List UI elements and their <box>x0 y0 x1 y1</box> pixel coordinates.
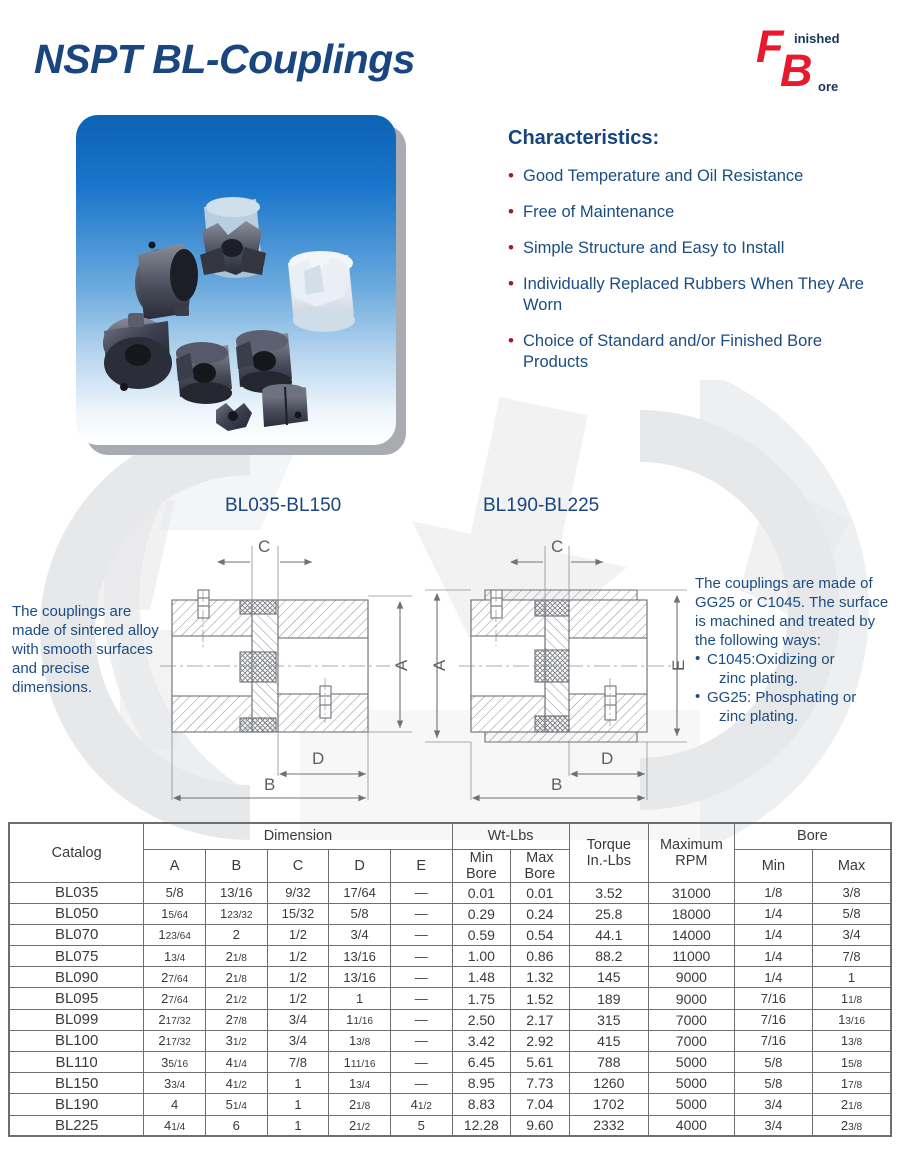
cell-bore-max: 11/8 <box>813 988 891 1009</box>
cell-bore-max: 3/4 <box>813 924 891 945</box>
cell-max-bore-wt: 2.17 <box>511 1009 570 1030</box>
specification-table: Catalog Dimension Wt-Lbs Torque In.-Lbs … <box>8 822 892 1137</box>
header-torque-line1: Torque <box>570 837 648 853</box>
cell-dim-c: 1/2 <box>267 946 329 967</box>
cell-max-bore-wt: 0.24 <box>511 903 570 924</box>
cell-min-bore-wt: 1.75 <box>452 988 511 1009</box>
cell-rpm: 5000 <box>649 1052 735 1073</box>
dim-label-b: B <box>551 775 562 794</box>
note-right: The couplings are made of GG25 or C1045.… <box>695 574 891 726</box>
characteristic-item: Simple Structure and Easy to Install <box>508 238 868 259</box>
logo-letter-b: B <box>780 48 813 93</box>
coupling-hub-right <box>236 330 292 393</box>
cell-dim-c: 1/2 <box>267 924 329 945</box>
cell-max-bore-wt: 1.52 <box>511 988 570 1009</box>
header-bore-min: Min <box>734 849 812 882</box>
dim-label-e: E <box>669 660 688 671</box>
characteristics-heading: Characteristics: <box>508 127 659 150</box>
cell-torque: 189 <box>569 988 648 1009</box>
cell-dim-e: — <box>390 1052 452 1073</box>
header-dim-a: A <box>144 849 206 882</box>
header-dim-c: C <box>267 849 329 882</box>
cell-dim-d: 3/4 <box>329 924 391 945</box>
cell-bore-max: 15/8 <box>813 1052 891 1073</box>
mini-spider <box>216 403 252 431</box>
cell-dim-b: 41/4 <box>205 1052 267 1073</box>
cell-dim-c: 1/2 <box>267 988 329 1009</box>
header-rpm: Maximum RPM <box>649 823 735 882</box>
header-bore-max: Max <box>813 849 891 882</box>
cell-min-bore-wt: 0.59 <box>452 924 511 945</box>
cell-max-bore-wt: 0.54 <box>511 924 570 945</box>
header-dim-b: B <box>205 849 267 882</box>
cell-catalog: BL050 <box>9 903 144 924</box>
technical-drawing-bl190-bl225: C A E D B <box>425 528 715 813</box>
cell-bore-min: 1/8 <box>734 882 812 903</box>
cell-catalog: BL110 <box>9 1052 144 1073</box>
coupling-hub <box>135 242 198 321</box>
cell-rpm: 9000 <box>649 988 735 1009</box>
cell-max-bore-wt: 0.01 <box>511 882 570 903</box>
cell-catalog: BL099 <box>9 1009 144 1030</box>
header-torque: Torque In.-Lbs <box>569 823 648 882</box>
cell-bore-max: 3/8 <box>813 882 891 903</box>
cell-dim-c: 15/32 <box>267 903 329 924</box>
note-right-bullet: GG25: Phosphating or <box>695 688 891 707</box>
cell-torque: 1702 <box>569 1094 648 1115</box>
cell-bore-min: 1/4 <box>734 946 812 967</box>
note-right-bullet: C1045:Oxidizing or <box>695 650 891 669</box>
logo-word-inished: inished <box>794 32 840 45</box>
cell-min-bore-wt: 1.00 <box>452 946 511 967</box>
cell-catalog: BL070 <box>9 924 144 945</box>
header-dimension: Dimension <box>144 823 452 849</box>
characteristic-item: Free of Maintenance <box>508 202 868 223</box>
cell-max-bore-wt: 7.04 <box>511 1094 570 1115</box>
table-row: BL09527/6421/21/21—1.751.5218990007/1611… <box>9 988 891 1009</box>
table-row: BL099217/3227/83/411/16—2.502.1731570007… <box>9 1009 891 1030</box>
cell-max-bore-wt: 2.92 <box>511 1030 570 1051</box>
cell-dim-b: 6 <box>205 1115 267 1136</box>
cell-catalog: BL095 <box>9 988 144 1009</box>
cell-max-bore-wt: 7.73 <box>511 1073 570 1094</box>
cell-bore-min: 1/4 <box>734 903 812 924</box>
cell-torque: 2332 <box>569 1115 648 1136</box>
cell-dim-d: 21/2 <box>329 1115 391 1136</box>
cell-bore-min: 3/4 <box>734 1115 812 1136</box>
characteristic-item: Good Temperature and Oil Resistance <box>508 166 868 187</box>
cell-dim-d: 1 <box>329 988 391 1009</box>
cell-dim-e: — <box>390 988 452 1009</box>
cell-dim-a: 217/32 <box>144 1009 206 1030</box>
cell-min-bore-wt: 12.28 <box>452 1115 511 1136</box>
cell-torque: 44.1 <box>569 924 648 945</box>
cell-dim-e: — <box>390 903 452 924</box>
cell-min-bore-wt: 3.42 <box>452 1030 511 1051</box>
drawing-label-right: BL190-BL225 <box>483 495 599 517</box>
cell-rpm: 7000 <box>649 1009 735 1030</box>
cell-catalog: BL090 <box>9 967 144 988</box>
cell-bore-min: 1/4 <box>734 967 812 988</box>
cell-max-bore-wt: 9.60 <box>511 1115 570 1136</box>
cell-dim-b: 21/2 <box>205 988 267 1009</box>
table-row: BL07513/421/81/213/16—1.000.8688.2110001… <box>9 946 891 967</box>
cell-bore-max: 17/8 <box>813 1073 891 1094</box>
header-min-bore: Min Bore <box>452 849 511 882</box>
cell-dim-b: 27/8 <box>205 1009 267 1030</box>
cell-dim-d: 13/16 <box>329 967 391 988</box>
cell-catalog: BL035 <box>9 882 144 903</box>
cell-torque: 1260 <box>569 1073 648 1094</box>
cell-dim-c: 7/8 <box>267 1052 329 1073</box>
table-row: BL0355/813/169/3217/64—0.010.013.5231000… <box>9 882 891 903</box>
cell-dim-e: — <box>390 882 452 903</box>
table-row: BL100217/3231/23/413/8—3.422.9241570007/… <box>9 1030 891 1051</box>
cell-max-bore-wt: 5.61 <box>511 1052 570 1073</box>
page-title: NSPT BL-Couplings <box>34 36 415 83</box>
cell-dim-b: 21/8 <box>205 946 267 967</box>
cell-dim-b: 51/4 <box>205 1094 267 1115</box>
cell-torque: 788 <box>569 1052 648 1073</box>
cell-dim-d: 11/16 <box>329 1009 391 1030</box>
header-catalog: Catalog <box>9 823 144 882</box>
cell-dim-e: 41/2 <box>390 1094 452 1115</box>
cell-dim-b: 31/2 <box>205 1030 267 1051</box>
cell-dim-b: 123/32 <box>205 903 267 924</box>
header-min-bore-l1: Min <box>453 850 511 866</box>
cell-dim-d: 13/8 <box>329 1030 391 1051</box>
cell-dim-c: 1/2 <box>267 967 329 988</box>
cell-rpm: 5000 <box>649 1094 735 1115</box>
cell-catalog: BL190 <box>9 1094 144 1115</box>
cell-bore-min: 5/8 <box>734 1052 812 1073</box>
cell-min-bore-wt: 0.29 <box>452 903 511 924</box>
cell-catalog: BL225 <box>9 1115 144 1136</box>
characteristic-item: Individually Replaced Rubbers When They … <box>508 274 868 316</box>
table-row: BL22541/46121/2512.289.60233240003/423/8 <box>9 1115 891 1136</box>
cell-dim-d: 17/64 <box>329 882 391 903</box>
cell-dim-c: 1 <box>267 1115 329 1136</box>
cell-bore-max: 5/8 <box>813 903 891 924</box>
coupling-hub-mid <box>176 342 232 404</box>
table-row: BL09027/6421/81/213/16—1.481.3214590001/… <box>9 967 891 988</box>
cell-dim-a: 15/64 <box>144 903 206 924</box>
fb-logo: F inished B ore <box>750 22 872 100</box>
cell-bore-max: 21/8 <box>813 1094 891 1115</box>
cell-min-bore-wt: 6.45 <box>452 1052 511 1073</box>
coupling-assembly <box>200 197 266 278</box>
cell-dim-a: 13/4 <box>144 946 206 967</box>
cell-dim-e: 5 <box>390 1115 452 1136</box>
note-left: The couplings are made of sintered alloy… <box>12 602 164 697</box>
dim-label-c: C <box>258 537 270 556</box>
cell-dim-e: — <box>390 1073 452 1094</box>
cell-rpm: 18000 <box>649 903 735 924</box>
table-row: BL11035/1641/47/8111/16—6.455.6178850005… <box>9 1052 891 1073</box>
note-right-bullet-cont: zinc plating. <box>695 707 891 726</box>
cell-dim-c: 9/32 <box>267 882 329 903</box>
cell-rpm: 5000 <box>649 1073 735 1094</box>
technical-drawing-bl035-bl150: C A D B <box>160 528 450 813</box>
cell-dim-d: 13/16 <box>329 946 391 967</box>
cell-min-bore-wt: 8.95 <box>452 1073 511 1094</box>
header-wtlbs: Wt-Lbs <box>452 823 569 849</box>
cell-bore-min: 7/16 <box>734 1009 812 1030</box>
cell-min-bore-wt: 8.83 <box>452 1094 511 1115</box>
cell-dim-a: 27/64 <box>144 967 206 988</box>
cell-bore-min: 7/16 <box>734 988 812 1009</box>
characteristics-list: Good Temperature and Oil Resistance Free… <box>508 166 868 388</box>
dim-label-a: A <box>430 659 449 671</box>
header-min-bore-l2: Bore <box>453 866 511 882</box>
cell-catalog: BL100 <box>9 1030 144 1051</box>
cell-dim-a: 35/16 <box>144 1052 206 1073</box>
cell-dim-d: 5/8 <box>329 903 391 924</box>
cell-dim-e: — <box>390 946 452 967</box>
header-max-bore: Max Bore <box>511 849 570 882</box>
cell-dim-b: 2 <box>205 924 267 945</box>
table-row: BL05015/64123/3215/325/8—0.290.2425.8180… <box>9 903 891 924</box>
dim-label-d: D <box>601 749 613 768</box>
cell-dim-a: 4 <box>144 1094 206 1115</box>
cell-dim-e: — <box>390 967 452 988</box>
cell-rpm: 4000 <box>649 1115 735 1136</box>
dim-label-a: A <box>392 659 411 671</box>
cell-torque: 315 <box>569 1009 648 1030</box>
cell-bore-min: 1/4 <box>734 924 812 945</box>
logo-word-ore: ore <box>818 80 838 93</box>
table-row: BL15033/441/2113/4—8.957.73126050005/817… <box>9 1073 891 1094</box>
product-photo <box>76 115 396 445</box>
table-header-row-1: Catalog Dimension Wt-Lbs Torque In.-Lbs … <box>9 823 891 849</box>
cell-bore-min: 5/8 <box>734 1073 812 1094</box>
cell-dim-c: 3/4 <box>267 1009 329 1030</box>
cell-bore-max: 13/16 <box>813 1009 891 1030</box>
cell-dim-a: 33/4 <box>144 1073 206 1094</box>
note-right-bullet-cont: zinc plating. <box>695 669 891 688</box>
cell-dim-a: 5/8 <box>144 882 206 903</box>
table-row: BL190451/4121/841/28.837.04170250003/421… <box>9 1094 891 1115</box>
cell-catalog: BL075 <box>9 946 144 967</box>
cell-dim-a: 41/4 <box>144 1115 206 1136</box>
cell-dim-c: 1 <box>267 1094 329 1115</box>
cell-torque: 145 <box>569 967 648 988</box>
header-rpm-line1: Maximum <box>649 837 734 853</box>
cell-rpm: 31000 <box>649 882 735 903</box>
cell-rpm: 11000 <box>649 946 735 967</box>
cell-dim-b: 41/2 <box>205 1073 267 1094</box>
dim-label-c: C <box>551 537 563 556</box>
nylon-spider <box>288 251 355 332</box>
table-row: BL070123/6421/23/4—0.590.5444.1140001/43… <box>9 924 891 945</box>
coupling-hub-large <box>103 313 172 391</box>
cell-dim-d: 13/4 <box>329 1073 391 1094</box>
cell-max-bore-wt: 0.86 <box>511 946 570 967</box>
header-bore: Bore <box>734 823 891 849</box>
table-body: BL0355/813/169/3217/64—0.010.013.5231000… <box>9 882 891 1136</box>
small-coupling <box>262 384 308 427</box>
cell-dim-a: 123/64 <box>144 924 206 945</box>
header-dim-e: E <box>390 849 452 882</box>
dim-label-d: D <box>312 749 324 768</box>
header-max-bore-l2: Bore <box>511 866 569 882</box>
cell-catalog: BL150 <box>9 1073 144 1094</box>
cell-dim-d: 111/16 <box>329 1052 391 1073</box>
cell-rpm: 9000 <box>649 967 735 988</box>
cell-bore-max: 13/8 <box>813 1030 891 1051</box>
dim-label-b: B <box>264 775 275 794</box>
cell-dim-b: 13/16 <box>205 882 267 903</box>
header-max-bore-l1: Max <box>511 850 569 866</box>
cell-bore-min: 3/4 <box>734 1094 812 1115</box>
cell-rpm: 14000 <box>649 924 735 945</box>
cell-min-bore-wt: 2.50 <box>452 1009 511 1030</box>
cell-dim-b: 21/8 <box>205 967 267 988</box>
cell-rpm: 7000 <box>649 1030 735 1051</box>
note-right-intro: The couplings are made of GG25 or C1045.… <box>695 574 891 650</box>
cell-dim-e: — <box>390 924 452 945</box>
cell-torque: 25.8 <box>569 903 648 924</box>
cell-dim-c: 1 <box>267 1073 329 1094</box>
header-dim-d: D <box>329 849 391 882</box>
header-torque-line2: In.-Lbs <box>570 853 648 869</box>
header-rpm-line2: RPM <box>649 853 734 869</box>
cell-bore-max: 1 <box>813 967 891 988</box>
cell-min-bore-wt: 0.01 <box>452 882 511 903</box>
cell-dim-a: 27/64 <box>144 988 206 1009</box>
cell-bore-max: 23/8 <box>813 1115 891 1136</box>
characteristic-item: Choice of Standard and/or Finished Bore … <box>508 331 868 373</box>
cell-torque: 415 <box>569 1030 648 1051</box>
cell-dim-c: 3/4 <box>267 1030 329 1051</box>
cell-dim-e: — <box>390 1009 452 1030</box>
cell-min-bore-wt: 1.48 <box>452 967 511 988</box>
drawing-label-left: BL035-BL150 <box>225 495 341 517</box>
cell-dim-d: 21/8 <box>329 1094 391 1115</box>
cell-bore-max: 7/8 <box>813 946 891 967</box>
cell-torque: 88.2 <box>569 946 648 967</box>
datasheet-page: NSPT BL-Couplings F inished B ore <box>0 0 900 1157</box>
cell-dim-e: — <box>390 1030 452 1051</box>
cell-dim-a: 217/32 <box>144 1030 206 1051</box>
cell-bore-min: 7/16 <box>734 1030 812 1051</box>
cell-max-bore-wt: 1.32 <box>511 967 570 988</box>
cell-torque: 3.52 <box>569 882 648 903</box>
